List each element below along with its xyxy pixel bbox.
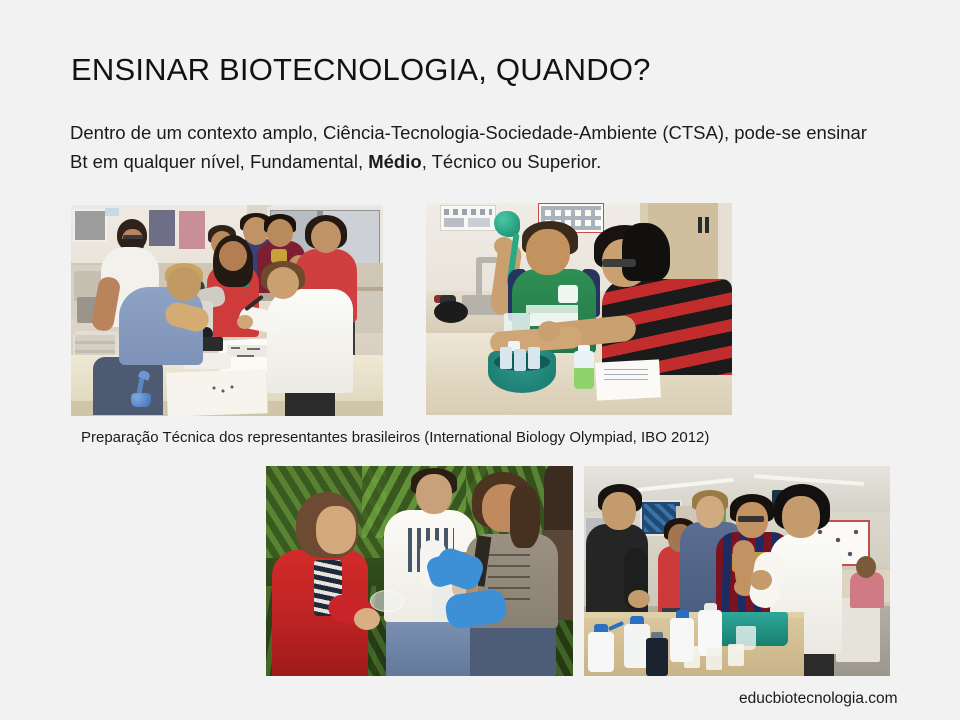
paper-writing-1 (231, 347, 240, 349)
photo-field-work (266, 466, 573, 676)
page-title: ENSINAR BIOTECNOLOGIA, QUANDO? (71, 50, 651, 90)
bench-paper-writing (604, 369, 648, 383)
seated-student-head (856, 556, 876, 578)
girl-jeans (470, 624, 556, 676)
wash-bottle-1 (588, 632, 614, 672)
door-handle-2 (705, 217, 709, 233)
lab-coat-student-head (782, 496, 820, 538)
body-paragraph: Dentro de um contexto amplo, Ciência-Tec… (70, 118, 870, 176)
bunsen-burner-base (434, 301, 468, 323)
green-vest-student-head (526, 229, 570, 275)
boy-head (416, 474, 452, 514)
poster-image-1 (444, 218, 464, 227)
striped-shirt-student-glasses (602, 259, 636, 267)
door-handle-1 (698, 217, 702, 233)
teacher-face (316, 506, 356, 554)
photo-pipetting-students (426, 203, 732, 415)
site-footer: educbiotecnologia.com (739, 688, 898, 709)
girl-hair-side (510, 486, 540, 548)
photo-lab-bottles (584, 466, 890, 676)
student-blue-head (167, 267, 201, 301)
student-blue-jeans (93, 357, 163, 415)
poster-text-lines (444, 209, 492, 215)
body-text-emphasis: Médio (368, 151, 421, 172)
wall-poster-left (149, 210, 175, 246)
student-girl-head (219, 241, 247, 271)
slide-canvas: ENSINAR BIOTECNOLOGIA, QUANDO? Dentro de… (0, 0, 960, 720)
wall-poster-right (179, 211, 205, 249)
dark-reagent-bottle (646, 638, 668, 676)
wall-note (105, 208, 119, 216)
lab-coat-hand (237, 315, 253, 329)
wall-board (73, 209, 107, 242)
student-black-head (602, 492, 636, 530)
body-text-part-2: , Técnico ou Superior. (422, 151, 602, 172)
student-red-head (311, 221, 341, 253)
sample-jar-3 (728, 644, 744, 666)
photo-microscope-lab (71, 205, 383, 416)
blue-dropper-bottle (131, 393, 151, 407)
sample-jar-2 (706, 648, 722, 670)
student-black-hand (628, 590, 650, 608)
lab-coat (267, 289, 353, 393)
test-tube-3 (528, 347, 540, 369)
teacher-hand (354, 608, 380, 630)
faucet (476, 259, 482, 297)
lab-coat-hand (750, 570, 772, 590)
vest-sponsor-logo (558, 285, 578, 303)
poster-image-2 (468, 218, 490, 227)
student-blue-head (696, 496, 724, 528)
paper-specimen-dots (211, 385, 237, 395)
green-reagent-bottle (574, 351, 594, 389)
test-tube-2 (514, 349, 526, 371)
vest-bib-text-line (526, 305, 578, 313)
striped-shirt-student-hair-back (622, 223, 670, 281)
student-striped-glasses (738, 516, 764, 522)
sample-jar-1 (684, 646, 700, 668)
lab-coat-student-head (267, 267, 299, 299)
photo-row-caption: Preparação Técnica dos representantes br… (81, 427, 709, 448)
striped-shirt-student-hand (538, 321, 560, 341)
student-maroon-head (267, 219, 293, 247)
paper-writing-3 (237, 355, 254, 357)
paper-writing-2 (247, 348, 260, 350)
test-tube-1 (500, 347, 512, 369)
petri-dish (370, 590, 404, 612)
